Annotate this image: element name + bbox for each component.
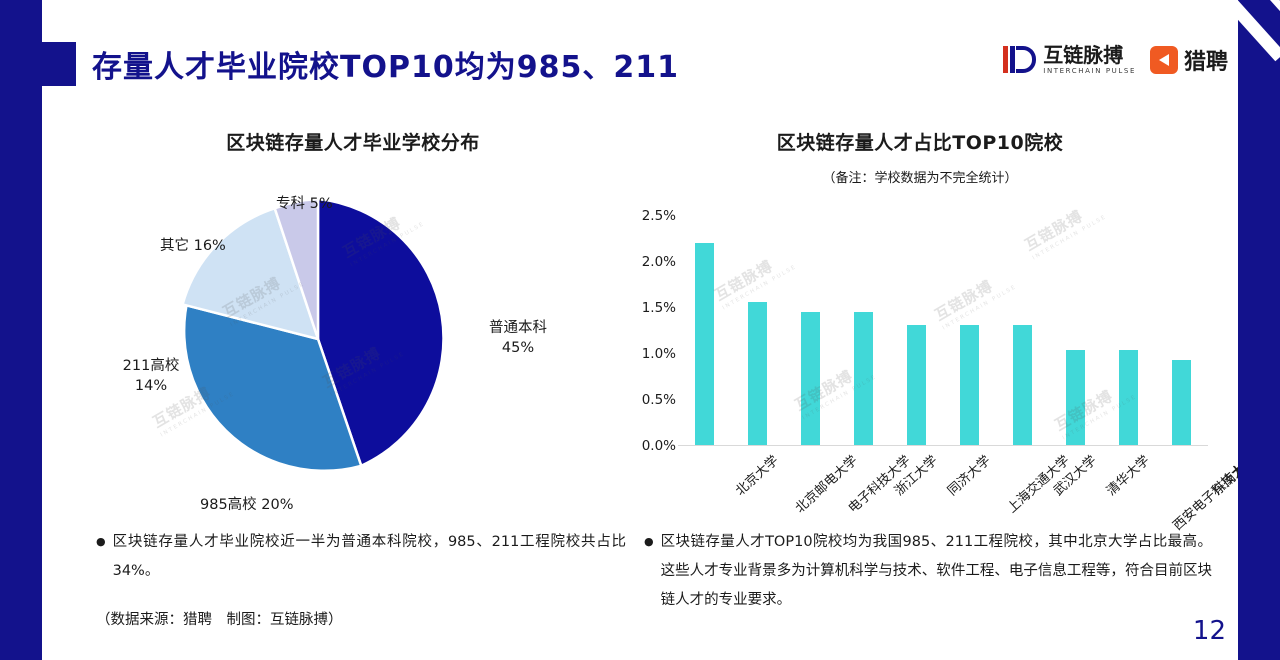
pie-chart-panel: 区块链存量人才毕业学校分布 专科 5% 其它 16% 211高校 14% 985… [88,128,618,518]
interchain-pulse-logo: 互链脉搏 INTERCHAIN PULSE [1003,44,1136,76]
y-axis-tick: 1.5% [642,300,676,316]
plot-area [678,216,1208,446]
pie-label-benke-pct: 45% [470,339,566,359]
x-axis-tick-label: 同济大学 [942,450,993,499]
bullet-dot-icon: ● [96,528,106,586]
left-edge-band [0,0,42,660]
left-note-source: （数据来源：猎聘 制图：互链脉搏） [96,608,626,629]
y-axis-tick: 2.5% [642,208,676,224]
bullet-dot-icon: ● [644,528,654,615]
right-note-text: 区块链存量人才TOP10院校均为我国985、211工程院校，其中北京大学占比最高… [661,528,1212,615]
x-axis-tick-label: 清华大学 [1101,450,1152,499]
bar [695,243,714,445]
page-title: 存量人才毕业院校TOP10均为985、211 [92,42,679,86]
left-notes: ● 区块链存量人才毕业院校近一半为普通本科院校，985、211工程院校共占比34… [96,528,626,629]
interchain-pulse-mark-icon [1003,44,1037,76]
liepin-name: 猎聘 [1184,44,1228,76]
x-axis-labels: 北京大学北京邮电大学电子科技大学浙江大学同济大学上海交通大学武汉大学清华大学西安… [678,450,1208,536]
left-note-text: 区块链存量人才毕业院校近一半为普通本科院校，985、211工程院校共占比34%。 [113,528,626,586]
bar [907,325,926,445]
bar [1172,360,1191,445]
y-axis-tick: 0.5% [642,392,676,408]
pie-label-211: 211高校 14% [106,357,196,396]
bar-chart-subtitle: （备注：学校数据为不完全统计） [620,167,1220,186]
bar [748,302,767,445]
interchain-pulse-name: 互链脉搏 [1043,45,1136,65]
x-axis-tick-label: 北京大学 [730,450,781,499]
pie-label-benke-name: 普通本科 [470,319,566,339]
interchain-pulse-subtitle: INTERCHAIN PULSE [1043,68,1136,75]
bar [1013,325,1032,445]
page-number: 12 [1193,616,1226,646]
pie-label-211-name: 211高校 [106,357,196,377]
y-axis-tick: 1.0% [642,346,676,362]
right-note-bullet: ● 区块链存量人才TOP10院校均为我国985、211工程院校，其中北京大学占比… [644,528,1212,615]
left-note-bullet: ● 区块链存量人才毕业院校近一半为普通本科院校，985、211工程院校共占比34… [96,528,626,586]
liepin-play-mark-icon [1150,46,1178,74]
y-axis-tick: 0.0% [642,438,676,454]
pie-label-putongbenke: 普通本科 45% [470,319,566,358]
pie-label-qita: 其它 16% [160,237,226,257]
bar-chart-figure: 0.0%0.5%1.0%1.5%2.0%2.5% 北京大学北京邮电大学电子科技大… [620,188,1220,536]
y-axis-tick: 2.0% [642,254,676,270]
pie-chart-title: 区块链存量人才毕业学校分布 [88,128,618,155]
pie-chart-figure: 专科 5% 其它 16% 211高校 14% 985高校 20% 普通本科 45… [88,159,618,514]
pie-label-211-pct: 14% [106,377,196,397]
bar-series [678,216,1208,445]
pie-label-zhuanke: 专科 5% [276,195,333,215]
bar [801,312,820,445]
left-edge-tab [42,42,76,86]
logo-group: 互链脉搏 INTERCHAIN PULSE 猎聘 [1003,44,1228,76]
bar [960,325,979,445]
bar [1066,350,1085,445]
bar [1119,350,1138,445]
liepin-logo: 猎聘 [1150,44,1228,76]
bar-chart-title: 区块链存量人才占比TOP10院校 [620,128,1220,155]
bar [854,312,873,445]
pie-svg [168,189,468,489]
y-axis: 0.0%0.5%1.0%1.5%2.0%2.5% [620,216,676,446]
pie-label-985: 985高校 20% [200,496,294,516]
bar-chart-panel: 区块链存量人才占比TOP10院校 （备注：学校数据为不完全统计） 0.0%0.5… [620,128,1220,518]
right-notes: ● 区块链存量人才TOP10院校均为我国985、211工程院校，其中北京大学占比… [644,528,1212,615]
right-edge-band [1238,0,1280,660]
